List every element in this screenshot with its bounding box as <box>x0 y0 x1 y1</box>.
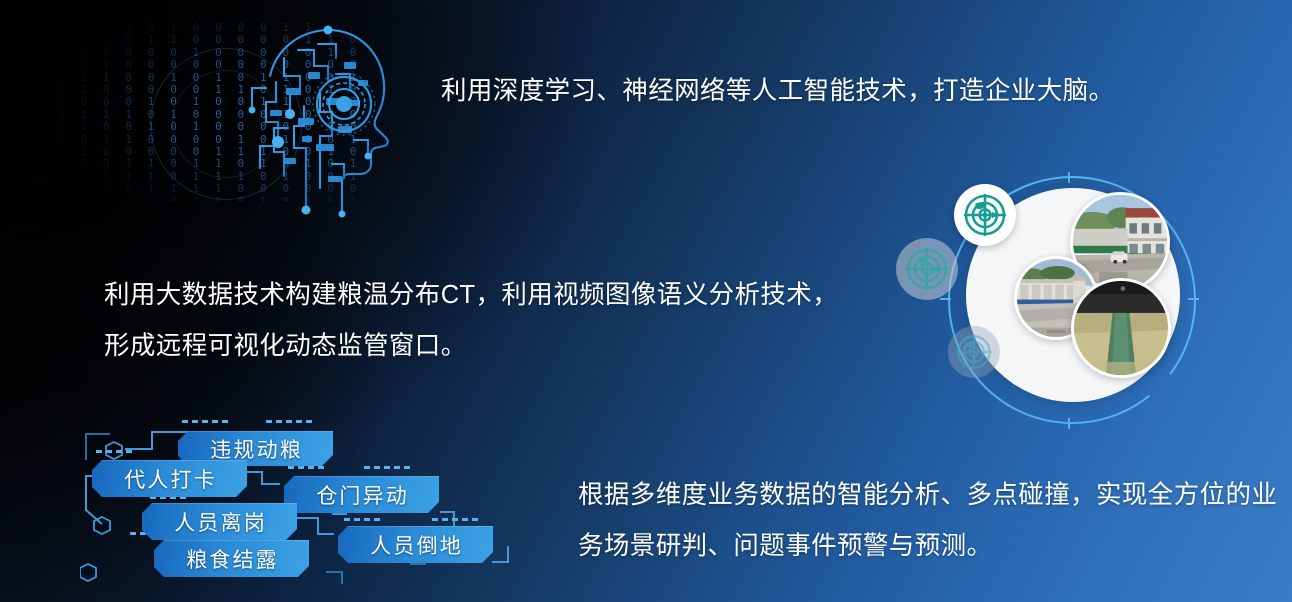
svg-text:XXXXXX: XXXXXX <box>1047 329 1067 334</box>
photo-cluster: XXXXXX <box>930 168 1260 393</box>
description-paragraph-3: 根据多维度业务数据的智能分析、多点碰撞，实现全方位的业务场景研判、问题事件预警与… <box>578 470 1278 572</box>
presentation-slide: 0 1 0 1 0 1 0 0 0 0 1 1 0 0 1 0 1 1 0 0 … <box>0 0 1292 602</box>
event-tag-1[interactable]: 代人打卡 <box>92 460 247 497</box>
arc-tick-left <box>940 298 951 300</box>
photo-granary-interior[interactable] <box>1071 278 1171 378</box>
arc-tick-top <box>1068 172 1070 183</box>
description-paragraph-2: 利用大数据技术构建粮温分布CT，利用视频图像语义分析技术，形成远程可视化动态监管… <box>104 270 844 372</box>
target-radar-icon-small <box>948 326 1000 378</box>
event-tag-5[interactable]: 粮食结露 <box>154 540 309 577</box>
target-radar-icon-mid <box>896 238 958 300</box>
target-radar-icon <box>904 246 950 292</box>
target-radar-icon <box>955 333 993 371</box>
description-paragraph-1: 利用深度学习、神经网络等人工智能技术，打造企业大脑。 <box>441 66 1141 117</box>
target-radar-icon-main <box>954 184 1016 246</box>
event-tag-3[interactable]: 人员离岗 <box>142 503 297 540</box>
event-tag-cluster: 违规动粮 代人打卡 仓门异动 人员离岗 人员倒地 粮食结露 <box>80 414 530 594</box>
event-tag-2[interactable]: 仓门异动 <box>284 476 439 513</box>
target-radar-icon <box>962 192 1008 238</box>
arc-tick-right <box>1188 298 1199 300</box>
event-tag-4[interactable]: 人员倒地 <box>338 526 493 563</box>
